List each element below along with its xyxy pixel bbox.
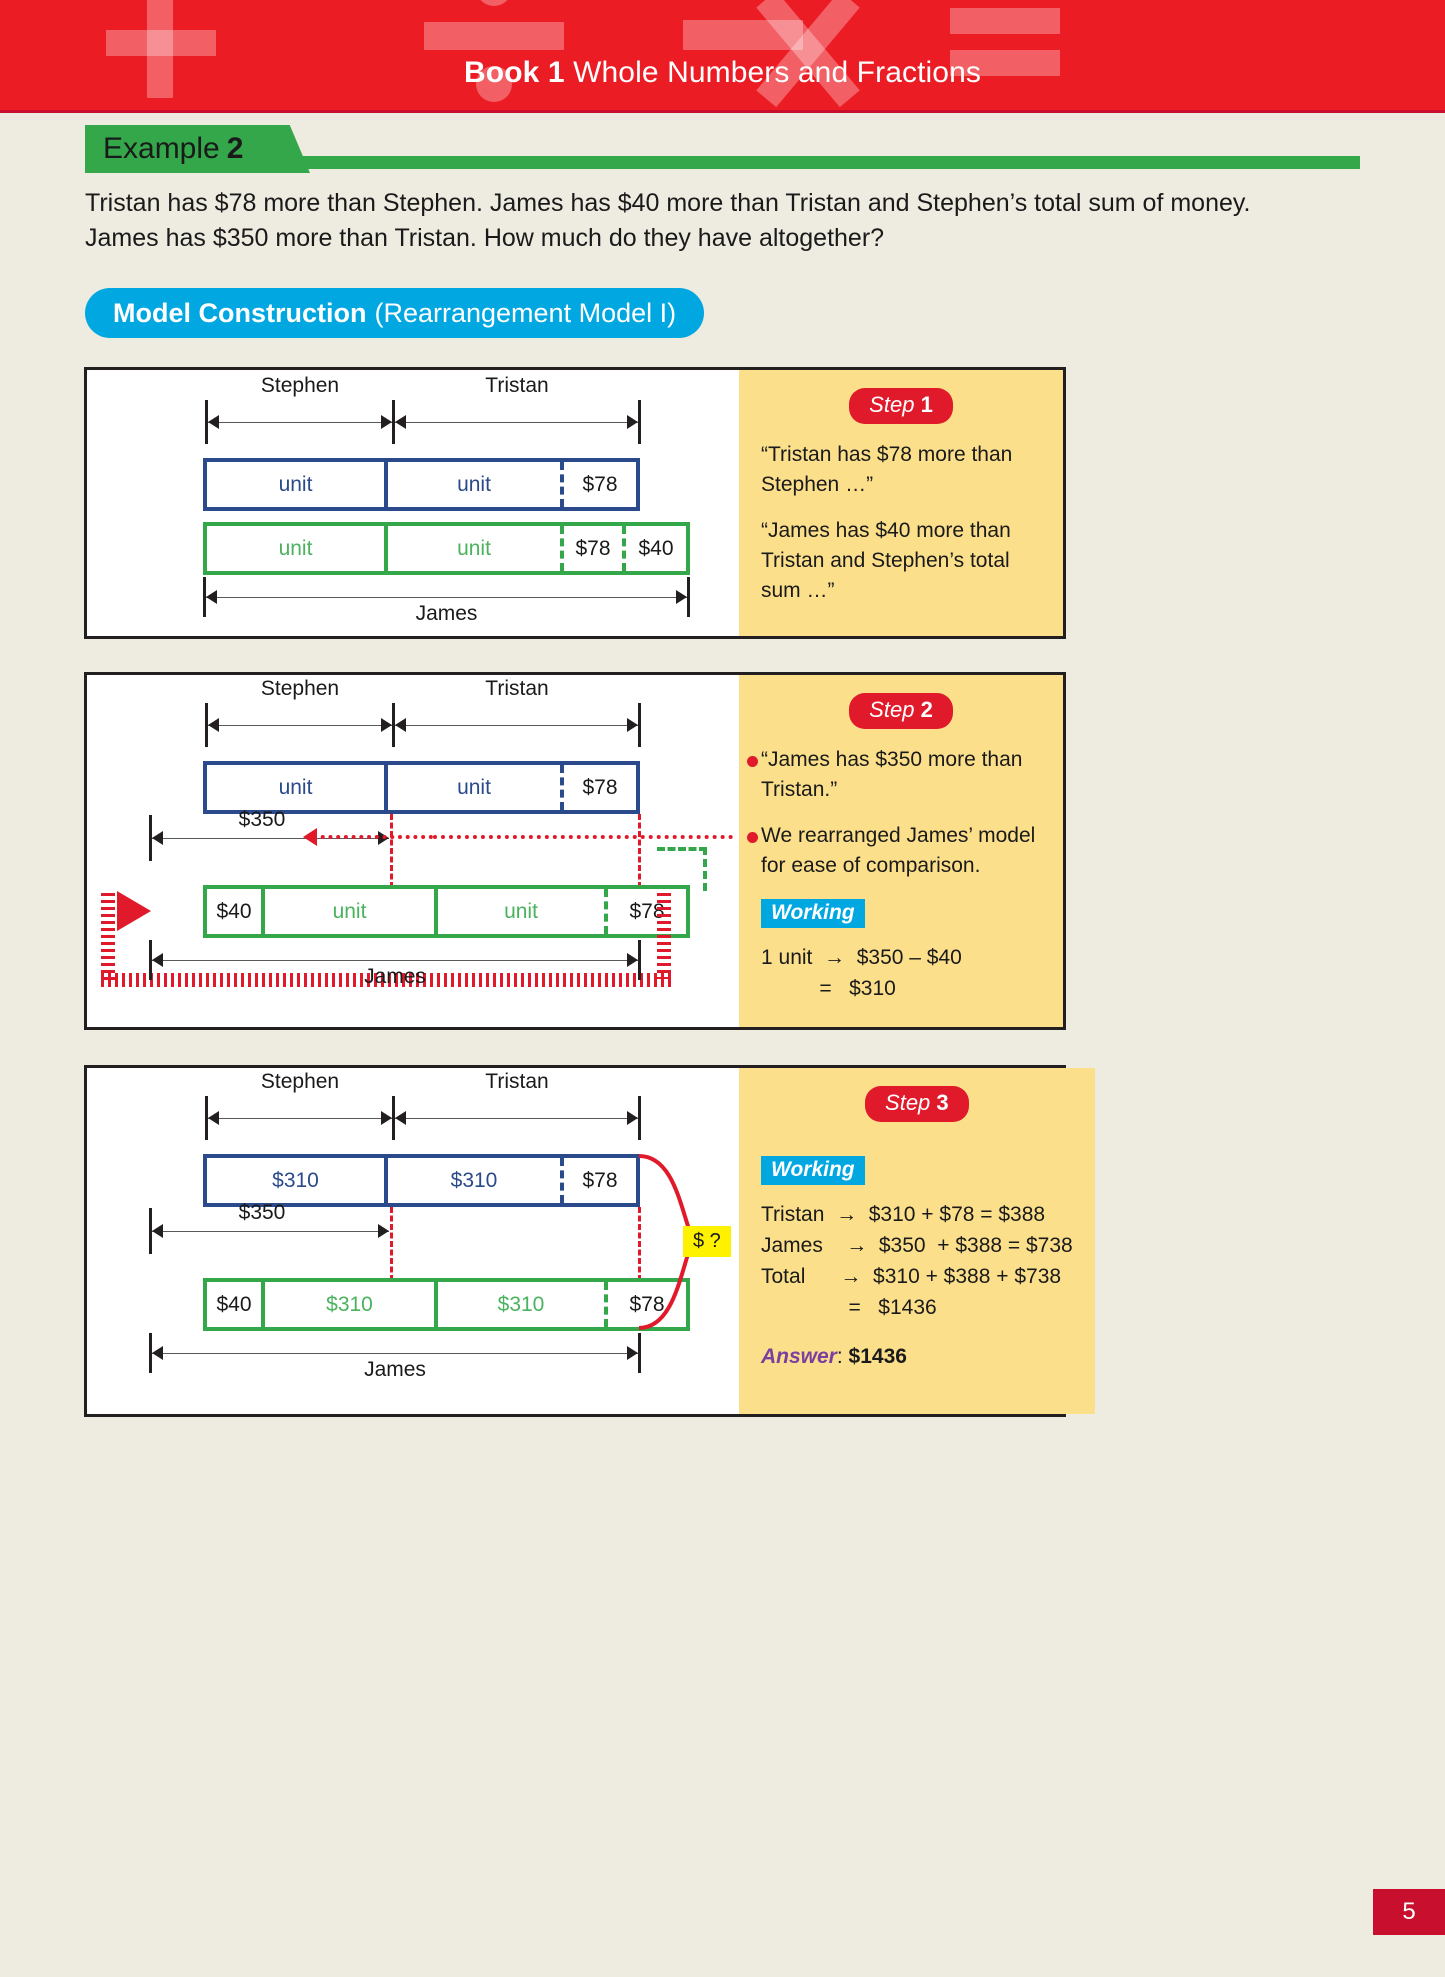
bullet-dot-icon-2 <box>747 832 758 843</box>
arrow-right-stephen-2 <box>381 718 392 732</box>
answer-label: Answer <box>761 1345 837 1368</box>
green-seg-money-78: $78 <box>564 526 626 571</box>
green-bar-step2: $40 unit unit $78 <box>203 885 690 938</box>
step-2-note-2-text: We rearranged James’ model for ease of c… <box>761 824 1035 877</box>
step-2-working-line-2: = $310 <box>761 973 1041 1004</box>
arrow-left-350-3 <box>152 1224 163 1238</box>
bracket-label-stephen-3: Stephen <box>207 1070 393 1094</box>
step-2-badge-label: Step <box>869 697 914 722</box>
step-3-working-line-4: Total → $310 + $388 + $738 <box>761 1261 1073 1292</box>
red-move-arrow-icon <box>117 891 151 931</box>
step-2-working-line-1: 1 unit → $350 – $40 <box>761 942 1041 973</box>
example-heading: Example 2 <box>85 125 1360 173</box>
step-1-badge-number: 1 <box>921 392 933 417</box>
step-3-badge: Step 3 <box>865 1086 969 1122</box>
equals-icon-bar-1 <box>950 8 1060 34</box>
arrow-right-tristan-2 <box>627 718 638 732</box>
green2-seg-unit-2: unit <box>438 889 608 934</box>
bracket-label-tristan: Tristan <box>395 374 639 398</box>
step-2-diagram: Stephen Tristan unit unit $78 $350 $40 u… <box>87 675 739 1027</box>
measure-stephen-3 <box>208 1118 392 1119</box>
step-3-badge-number: 3 <box>936 1090 948 1115</box>
header-rule <box>0 110 1445 113</box>
header-title: Book 1 Whole Numbers and Fractions <box>0 56 1445 90</box>
tick-james-right-2 <box>638 940 641 980</box>
green3-seg-40: $40 <box>207 1282 265 1327</box>
tick-right-3 <box>638 1096 641 1140</box>
arrow-left-350 <box>152 831 163 845</box>
model-construction-title: Model Construction <box>113 298 366 329</box>
blue2-seg-unit-1: unit <box>207 765 388 810</box>
bracket-label-james-2: James <box>152 965 638 989</box>
green2-seg-money-40: $40 <box>207 889 265 934</box>
arrow-left-stephen-2 <box>208 718 219 732</box>
green2-seg-unit-1: unit <box>265 889 438 934</box>
measure-tristan-2 <box>395 725 638 726</box>
red-hatch-vertical <box>101 893 115 983</box>
step-1-badge-row: Step 1 <box>761 388 1041 424</box>
step-1-badge: Step 1 <box>849 388 953 424</box>
step-2-notes: Step 2 “James has $350 more than Tristan… <box>739 675 1063 1027</box>
green3-seg-310-1: $310 <box>265 1282 438 1327</box>
answer-value: $1436 <box>849 1345 907 1368</box>
green-seg-unit-1: unit <box>207 526 388 571</box>
blue3-seg-78: $78 <box>564 1158 636 1203</box>
step-3-working-tag: Working <box>761 1156 865 1185</box>
green-seg-unit-2: unit <box>388 526 564 571</box>
step-1-badge-label: Step <box>869 392 914 417</box>
arrow-right-tristan <box>627 415 638 429</box>
step-1-note-1: “Tristan has $78 more than Stephen …” <box>761 440 1041 500</box>
arrow-right-350-3 <box>378 1224 389 1238</box>
step-panel-3: Stephen Tristan $310 $310 $78 $350 $40 $… <box>84 1065 1066 1417</box>
blue2-seg-unit-2: unit <box>388 765 564 810</box>
tick-right-2 <box>638 703 641 747</box>
step-3-working-line-1: Tristan → $310 + $78 = $388 <box>761 1199 1073 1230</box>
example-number: 2 <box>227 132 244 166</box>
blue3-seg-310-1: $310 <box>207 1158 388 1203</box>
question-badge: $ ? <box>683 1226 731 1257</box>
step-3-diagram: Stephen Tristan $310 $310 $78 $350 $40 $… <box>87 1068 739 1414</box>
divide-icon-dot-top <box>476 0 512 6</box>
red-dash-line-mid-3 <box>390 1207 393 1281</box>
bracket-label-stephen-2: Stephen <box>207 677 393 701</box>
plus-icon-bar <box>106 30 216 56</box>
arrow-left-stephen <box>208 415 219 429</box>
bracket-label-james-3: James <box>152 1358 638 1382</box>
step-2-working-tag: Working <box>761 899 865 928</box>
red-dash-line-right <box>638 814 641 888</box>
step-2-note-1: “James has $350 more than Tristan.” <box>761 745 1041 805</box>
measure-350-3 <box>152 1231 389 1232</box>
green-bar-step1: unit unit $78 $40 <box>203 522 690 575</box>
header-book-label: Book 1 <box>464 56 565 89</box>
measure-tristan-3 <box>395 1118 638 1119</box>
green3-seg-310-2: $310 <box>438 1282 608 1327</box>
bracket-label-james: James <box>206 602 687 626</box>
arrow-left-tristan-2 <box>395 718 406 732</box>
red-hatch-vertical-right <box>657 893 671 979</box>
blue-bar-step3: $310 $310 $78 <box>203 1154 640 1207</box>
blue-seg-unit-2: unit <box>388 462 564 507</box>
blue3-seg-310-2: $310 <box>388 1158 564 1203</box>
bracket-label-tristan-2: Tristan <box>395 677 639 701</box>
measure-james-3 <box>152 1353 638 1354</box>
blue-bar-step1: unit unit $78 <box>203 458 640 511</box>
blue-seg-unit-1: unit <box>207 462 388 507</box>
measure-tristan <box>395 422 638 423</box>
step-3-working-line-2: James → $350 + $388 = $738 <box>761 1230 1073 1261</box>
step-1-note-2: “James has $40 more than Tristan and Ste… <box>761 516 1041 606</box>
arrow-left-stephen-3 <box>208 1111 219 1125</box>
arrow-left-tristan <box>395 415 406 429</box>
arrow-right-tristan-3 <box>627 1111 638 1125</box>
bracket-label-tristan-3: Tristan <box>395 1070 639 1094</box>
step-2-badge-row: Step 2 <box>761 693 1041 729</box>
step-1-notes: Step 1 “Tristan has $78 more than Stephe… <box>739 370 1063 636</box>
blue-bar-step2: unit unit $78 <box>203 761 640 814</box>
arrow-right-stephen <box>381 415 392 429</box>
step-3-badge-row: Step 3 <box>761 1086 1073 1122</box>
tick-james-right <box>687 577 690 617</box>
step-3-working-line-5: = $1436 <box>761 1292 1073 1323</box>
step-2-badge-number: 2 <box>921 697 933 722</box>
measure-james-2 <box>152 960 638 961</box>
green-dash-marker-v <box>703 847 707 891</box>
red-arrow-head-350 <box>303 828 317 846</box>
page-number-badge: 5 <box>1373 1889 1445 1935</box>
step-3-badge-label: Step <box>885 1090 930 1115</box>
step-2-note-2: We rearranged James’ model for ease of c… <box>761 821 1041 881</box>
example-label: Example <box>103 132 220 166</box>
measure-stephen <box>208 422 392 423</box>
example-underline-bar <box>300 156 1360 169</box>
red-dash-line-mid <box>390 814 393 888</box>
problem-statement: Tristan has $78 more than Stephen. James… <box>85 186 1285 256</box>
tick-james-right-3 <box>638 1333 641 1373</box>
step-2-note-1-text: “James has $350 more than Tristan.” <box>761 748 1022 801</box>
green-bar-step3: $40 $310 $310 $78 <box>203 1278 690 1331</box>
divide-icon-bar <box>424 22 564 50</box>
example-tab: Example 2 <box>85 125 310 173</box>
step-panel-2: Stephen Tristan unit unit $78 $350 $40 u… <box>84 672 1066 1030</box>
answer-colon: : <box>837 1345 849 1368</box>
step-1-diagram: Stephen Tristan unit unit $78 unit unit … <box>87 370 739 636</box>
red-dot-connector-1 <box>433 835 733 839</box>
red-dot-arrow-350 <box>313 835 433 839</box>
header-title-text: Whole Numbers and Fractions <box>573 56 981 89</box>
arrow-left-tristan-3 <box>395 1111 406 1125</box>
model-construction-subtitle: (Rearrangement Model I) <box>374 298 676 329</box>
arrow-right-stephen-3 <box>381 1111 392 1125</box>
blue-seg-money: $78 <box>564 462 636 507</box>
page-header: Book 1 Whole Numbers and Fractions <box>0 0 1445 113</box>
step-3-answer: Answer: $1436 <box>761 1345 1073 1369</box>
step-2-badge: Step 2 <box>849 693 953 729</box>
bullet-dot-icon-1 <box>747 756 758 767</box>
tick-right <box>638 400 641 444</box>
green-dash-marker-h <box>657 847 707 851</box>
model-construction-header: Model Construction (Rearrangement Model … <box>85 288 704 338</box>
step-panel-1: Stephen Tristan unit unit $78 unit unit … <box>84 367 1066 639</box>
green-seg-money-40: $40 <box>626 526 686 571</box>
bracket-label-stephen: Stephen <box>207 374 393 398</box>
measure-james <box>206 597 687 598</box>
measure-label-350-3: $350 <box>197 1201 327 1225</box>
step-3-notes: Step 3 Working Tristan → $310 + $78 = $3… <box>739 1068 1095 1414</box>
blue2-seg-money: $78 <box>564 765 636 810</box>
measure-stephen-2 <box>208 725 392 726</box>
green2-seg-money-78: $78 <box>608 889 686 934</box>
